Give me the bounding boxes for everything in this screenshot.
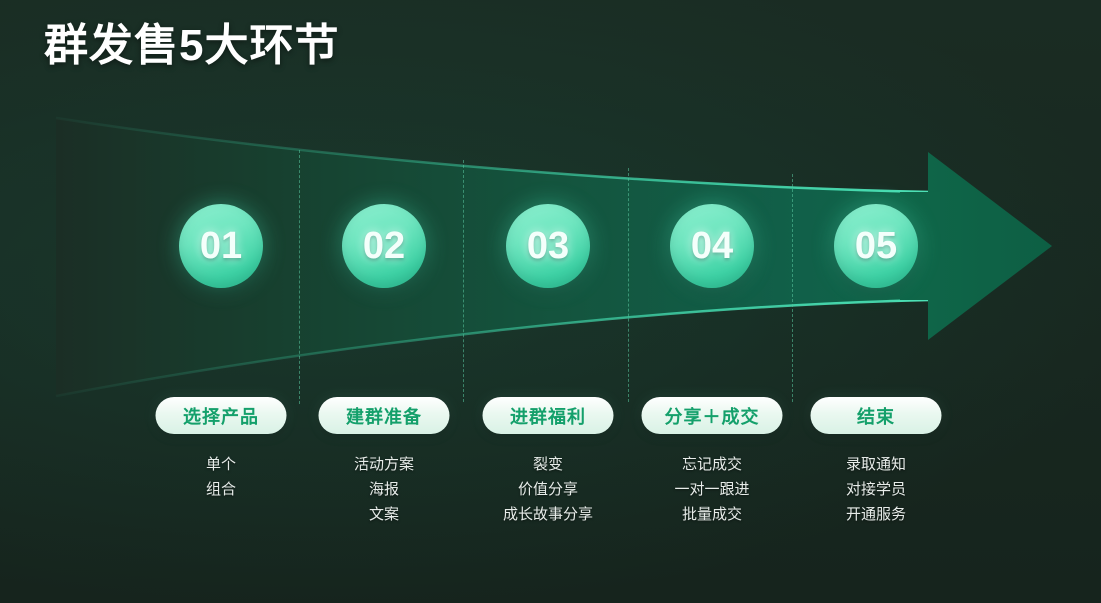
step-details-04: 忘记成交 一对一跟进 批量成交 (674, 452, 749, 527)
stage-divider-4 (792, 174, 793, 402)
detail-item: 对接学员 (846, 477, 906, 502)
arrow-head (928, 152, 1052, 340)
detail-item: 批量成交 (674, 502, 749, 527)
step-number-04: 04 (691, 227, 733, 265)
detail-item: 价值分享 (503, 477, 593, 502)
step-circle-04[interactable]: 04 (670, 204, 754, 288)
step-number-02: 02 (363, 227, 405, 265)
step-circle-03[interactable]: 03 (506, 204, 590, 288)
detail-item: 忘记成交 (674, 452, 749, 477)
detail-item: 活动方案 (354, 452, 414, 477)
step-circle-05[interactable]: 05 (834, 204, 918, 288)
step-label-04: 分享＋成交 (665, 403, 760, 429)
step-pill-01[interactable]: 选择产品 (156, 397, 287, 434)
detail-item: 一对一跟进 (674, 477, 749, 502)
step-number-01: 01 (200, 227, 242, 265)
step-number-05: 05 (855, 227, 897, 265)
detail-item: 组合 (206, 477, 236, 502)
page-title: 群发售5大环节 (44, 18, 339, 74)
stage-divider-3 (628, 168, 629, 402)
stage-divider-1 (299, 150, 300, 404)
step-circle-01[interactable]: 01 (179, 204, 263, 288)
step-pill-03[interactable]: 进群福利 (483, 397, 614, 434)
step-label-01: 选择产品 (183, 403, 259, 429)
step-circle-02[interactable]: 02 (342, 204, 426, 288)
step-pill-04[interactable]: 分享＋成交 (642, 397, 783, 434)
detail-item: 成长故事分享 (503, 502, 593, 527)
detail-item: 单个 (206, 452, 236, 477)
slide-canvas: 群发售5大环节 01 选择产品 单个 组合 02 建群准备 活动方案 海报 文案… (0, 0, 1101, 603)
step-details-05: 录取通知 对接学员 开通服务 (846, 452, 906, 527)
detail-item: 海报 (354, 477, 414, 502)
step-number-03: 03 (527, 227, 569, 265)
step-pill-05[interactable]: 结束 (811, 397, 942, 434)
step-label-05: 结束 (857, 403, 895, 429)
step-details-02: 活动方案 海报 文案 (354, 452, 414, 527)
detail-item: 裂变 (503, 452, 593, 477)
detail-item: 录取通知 (846, 452, 906, 477)
step-pill-02[interactable]: 建群准备 (319, 397, 450, 434)
detail-item: 文案 (354, 502, 414, 527)
detail-item: 开通服务 (846, 502, 906, 527)
step-label-02: 建群准备 (346, 403, 422, 429)
step-label-03: 进群福利 (510, 403, 586, 429)
step-details-03: 裂变 价值分享 成长故事分享 (503, 452, 593, 527)
stage-divider-2 (463, 160, 464, 402)
step-details-01: 单个 组合 (206, 452, 236, 502)
